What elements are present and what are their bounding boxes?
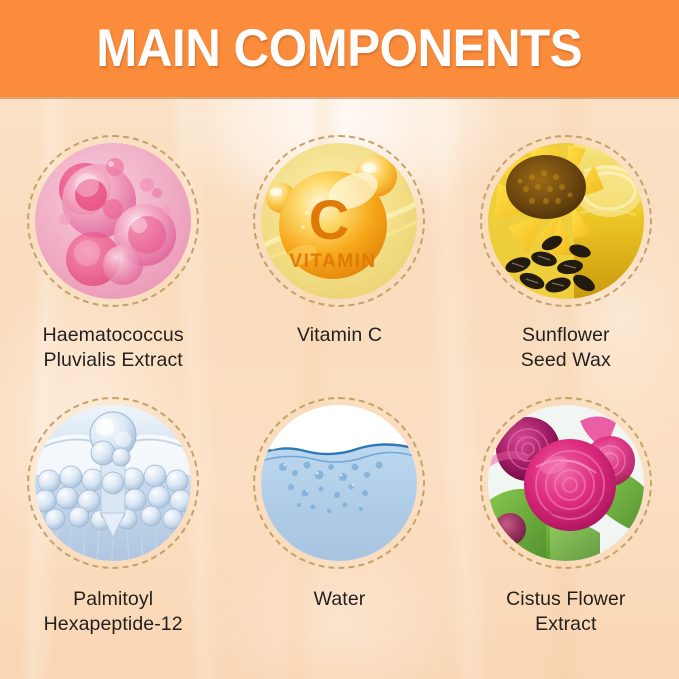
component-card-palmitoyl-hexapeptide-12: Palmitoyl Hexapeptide-12 [0,375,226,642]
label-line-1: Palmitoyl [13,587,213,612]
label-line-1: Cistus Flower [466,587,666,612]
component-circle-vitamin-c: C VITAMIN [253,135,425,307]
dashed-ring [253,397,425,569]
header-banner: MAIN COMPONENTS [0,0,679,97]
infographic-page: MAIN COMPONENTS [0,0,679,679]
label-line-2: Pluvialis Extract [13,348,213,373]
dashed-ring [27,135,199,307]
component-circle-haematococcus [27,135,199,307]
dashed-ring [27,397,199,569]
component-card-sunflower-seed-wax: Sunflower Seed Wax [453,108,679,375]
component-circle-cistus [480,397,652,569]
label-line-2: Extract [466,612,666,637]
label-line-1: Haematococcus [13,323,213,348]
component-circle-palmitoyl [27,397,199,569]
component-circle-water [253,397,425,569]
label-line-1: Vitamin C [239,323,439,348]
component-label-cistus: Cistus Flower Extract [466,587,666,637]
dashed-ring [480,397,652,569]
components-grid: Haematococcus Pluvialis Extract [0,108,679,642]
component-label-haematococcus: Haematococcus Pluvialis Extract [13,323,213,373]
label-line-1: Water [239,587,439,612]
component-label-palmitoyl: Palmitoyl Hexapeptide-12 [13,587,213,637]
component-circle-sunflower [480,135,652,307]
dashed-ring [253,135,425,307]
page-title: MAIN COMPONENTS [97,22,583,75]
dashed-ring [480,135,652,307]
component-label-vitamin-c: Vitamin C [239,323,439,348]
component-card-water: Water [226,375,452,642]
component-card-cistus-flower-extract: Cistus Flower Extract [453,375,679,642]
label-line-2: Seed Wax [466,348,666,373]
component-label-sunflower: Sunflower Seed Wax [466,323,666,373]
component-card-vitamin-c: C VITAMIN Vitamin C [226,108,452,375]
component-card-haematococcus-pluvialis-extract: Haematococcus Pluvialis Extract [0,108,226,375]
label-line-1: Sunflower [466,323,666,348]
component-label-water: Water [239,587,439,612]
label-line-2: Hexapeptide-12 [13,612,213,637]
